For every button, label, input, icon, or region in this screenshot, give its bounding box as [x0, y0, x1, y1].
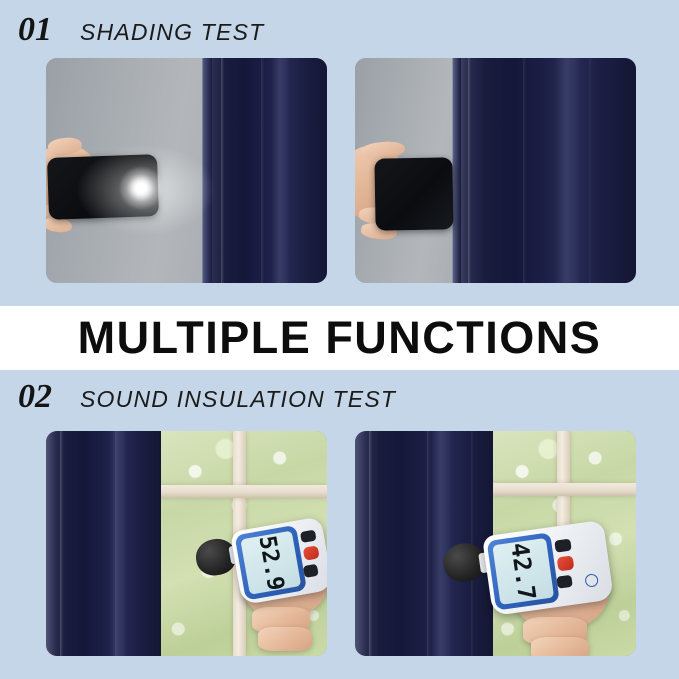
meter-lcd-screen: 42.7	[492, 538, 554, 605]
meter-reading-value: 52.9	[255, 533, 287, 592]
photo-panel-sound-behind-curtain: 42.7	[355, 431, 636, 656]
curtain-fold	[261, 58, 264, 283]
banner-title: MULTIPLE FUNCTIONS	[78, 312, 602, 364]
flashlight-beam	[119, 166, 163, 210]
infographic-page: 01 SHADING TEST	[0, 0, 679, 679]
section-title-01: SHADING TEST	[80, 19, 264, 46]
curtain-fold	[115, 431, 118, 656]
meter-button-power[interactable]	[554, 539, 572, 553]
smartphone	[374, 157, 453, 230]
section-title-02: SOUND INSULATION TEST	[80, 386, 396, 413]
meter-reading-value: 42.7	[507, 541, 539, 602]
curtain-fold	[369, 431, 372, 656]
curtain-fold	[221, 58, 224, 283]
section-number-01: 01	[18, 11, 52, 49]
meter-lcd-screen: 52.9	[240, 531, 301, 595]
curtain-panel	[203, 58, 327, 283]
photo-panel-shading-light-on	[46, 58, 327, 283]
curtain-edge	[452, 58, 461, 283]
window-mullion-horizontal	[490, 483, 636, 496]
section-header-02: 02 SOUND INSULATION TEST	[18, 378, 396, 416]
curtain-panel	[453, 58, 636, 283]
section-header-01: 01 SHADING TEST	[18, 11, 264, 49]
curtain-fold	[427, 431, 430, 656]
curtain-fold	[468, 58, 471, 283]
curtain-fold	[523, 58, 526, 283]
fingers	[531, 637, 589, 656]
photo-panel-shading-blocked	[355, 58, 636, 283]
curtain-fold	[589, 58, 592, 283]
photo-panel-sound-window-open: 52.9	[46, 431, 327, 656]
curtain-panel	[46, 431, 161, 656]
meter-button-mode[interactable]	[556, 575, 573, 589]
window-mullion-horizontal	[158, 485, 327, 498]
curtain-fold	[60, 431, 63, 656]
meter-button-record[interactable]	[557, 555, 575, 571]
section-number-02: 02	[18, 378, 52, 416]
banner: MULTIPLE FUNCTIONS	[0, 306, 679, 370]
fingers	[258, 627, 312, 651]
